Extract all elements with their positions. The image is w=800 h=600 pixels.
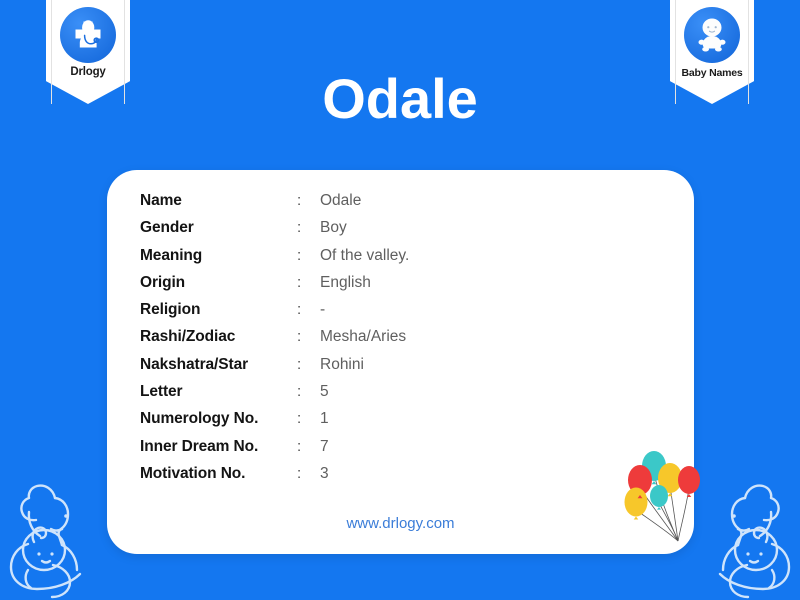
poster-canvas: Drlogy Baby Names Odale Name — [0, 0, 800, 600]
table-row: Name : Odale — [140, 192, 409, 219]
row-separator: : — [297, 438, 320, 455]
row-separator: : — [297, 301, 320, 318]
table-row: Religion : - — [140, 301, 409, 328]
row-value: English — [320, 274, 371, 292]
table-row: Meaning : Of the valley. — [140, 247, 409, 274]
row-label: Gender — [140, 219, 297, 237]
row-value: Odale — [320, 192, 361, 210]
website-url-link[interactable]: www.drlogy.com — [107, 515, 694, 532]
row-value: 3 — [320, 465, 329, 483]
row-label: Religion — [140, 301, 297, 319]
table-row: Nakshatra/Star : Rohini — [140, 356, 409, 383]
row-value: 7 — [320, 438, 329, 456]
table-row: Rashi/Zodiac : Mesha/Aries — [140, 328, 409, 355]
table-row: Numerology No. : 1 — [140, 410, 409, 437]
row-separator: : — [297, 356, 320, 373]
row-value: Rohini — [320, 356, 364, 374]
row-label: Name — [140, 192, 297, 210]
row-value: 5 — [320, 383, 329, 401]
row-separator: : — [297, 383, 320, 400]
table-row: Inner Dream No. : 7 — [140, 438, 409, 465]
table-row: Letter : 5 — [140, 383, 409, 410]
row-separator: : — [297, 274, 320, 291]
row-separator: : — [297, 247, 320, 264]
row-label: Motivation No. — [140, 465, 297, 483]
mother-and-baby-icon — [0, 472, 110, 600]
doctor-stethoscope-cross-icon — [60, 7, 116, 63]
row-separator: : — [297, 192, 320, 209]
name-details-card: Name : Odale Gender : Boy Meaning : Of t… — [107, 170, 694, 554]
row-value: - — [320, 301, 325, 319]
row-label: Nakshatra/Star — [140, 356, 297, 374]
row-value: Boy — [320, 219, 347, 237]
row-separator: : — [297, 410, 320, 427]
row-separator: : — [297, 328, 320, 345]
row-label: Inner Dream No. — [140, 438, 297, 456]
row-label: Letter — [140, 383, 297, 401]
row-value: Of the valley. — [320, 247, 409, 265]
page-title: Odale — [0, 66, 800, 132]
row-value: Mesha/Aries — [320, 328, 406, 346]
table-row: Origin : English — [140, 274, 409, 301]
row-label: Numerology No. — [140, 410, 297, 428]
row-separator: : — [297, 465, 320, 482]
table-row: Gender : Boy — [140, 219, 409, 246]
baby-sitting-icon — [684, 7, 740, 63]
row-value: 1 — [320, 410, 329, 428]
row-separator: : — [297, 219, 320, 236]
name-details-table: Name : Odale Gender : Boy Meaning : Of t… — [140, 192, 409, 492]
row-label: Meaning — [140, 247, 297, 265]
row-label: Origin — [140, 274, 297, 292]
row-label: Rashi/Zodiac — [140, 328, 297, 346]
mother-and-baby-icon — [690, 472, 800, 600]
table-row: Motivation No. : 3 — [140, 465, 409, 492]
